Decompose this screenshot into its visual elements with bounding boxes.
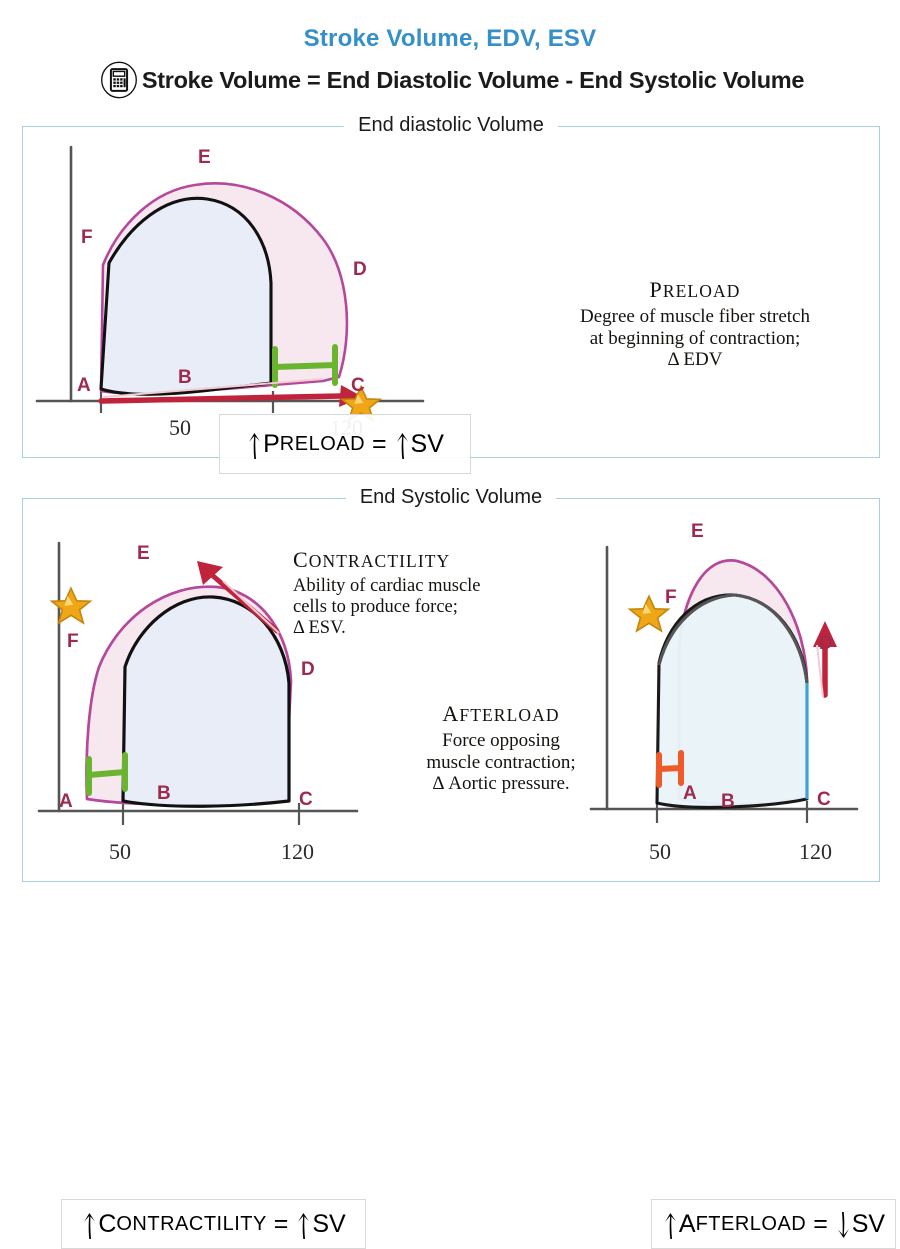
equation-term-afterload: A bbox=[679, 1210, 696, 1239]
equation-text-contractility: CONTRACTILITY = SV bbox=[81, 1210, 345, 1239]
point-label-C: C bbox=[351, 375, 365, 396]
point-label-D: D bbox=[301, 659, 315, 680]
equation-text-preload: PRELOAD = SV bbox=[246, 430, 444, 459]
arrow-up-icon bbox=[82, 1212, 97, 1239]
xtick-120-afterload: 120 bbox=[799, 839, 832, 865]
point-label-E: E bbox=[198, 147, 211, 168]
equation-sv-preload: SV bbox=[411, 430, 444, 459]
xtick-50-contractility: 50 bbox=[109, 839, 131, 865]
equation-term-contractility: C bbox=[98, 1210, 116, 1239]
point-label-B: B bbox=[721, 791, 735, 812]
equation-box-preload: PRELOAD = SV bbox=[219, 414, 471, 474]
point-label-C: C bbox=[817, 789, 831, 810]
arrow-up-icon bbox=[663, 1212, 678, 1239]
description-afterload: AFTERLOAD Force opposing muscle contract… bbox=[401, 701, 601, 795]
point-label-C: C bbox=[299, 789, 313, 810]
arrow-up-icon bbox=[296, 1212, 311, 1239]
arrow-up-icon bbox=[395, 432, 410, 459]
point-label-A: A bbox=[77, 375, 91, 396]
equation-term-preload: P bbox=[263, 430, 280, 459]
page-title: Stroke Volume, EDV, ESV bbox=[0, 26, 900, 52]
point-label-A: A bbox=[683, 783, 697, 804]
description-term-contractility: CONTRACTILITY bbox=[293, 547, 543, 573]
description-line-3: Δ Aortic pressure. bbox=[401, 773, 601, 795]
page-header: Stroke Volume, EDV, ESV Stroke Volume = … bbox=[0, 0, 900, 99]
equation-equals: = bbox=[806, 1210, 835, 1239]
point-label-F: F bbox=[67, 631, 79, 652]
star-marker bbox=[630, 596, 669, 631]
equation-equals: = bbox=[365, 430, 394, 459]
description-line-3: Δ ESV. bbox=[293, 618, 543, 639]
equation-box-contractility: CONTRACTILITY = SV bbox=[61, 1199, 366, 1249]
description-line-1: Ability of cardiac muscle bbox=[293, 576, 543, 597]
chart-afterload: A B C D E F bbox=[579, 503, 879, 875]
point-label-E: E bbox=[137, 543, 150, 564]
xtick-50-edv: 50 bbox=[169, 415, 191, 441]
description-line-2: muscle contraction; bbox=[401, 752, 601, 774]
description-contractility: CONTRACTILITY Ability of cardiac muscle … bbox=[293, 547, 543, 639]
panel-end-diastolic-volume: End diastolic Volume bbox=[22, 126, 880, 458]
chart-edv: A B C D E F bbox=[23, 133, 503, 453]
description-term-afterload: AFTERLOAD bbox=[401, 701, 601, 727]
point-label-E: E bbox=[691, 521, 704, 542]
description-line-2: cells to produce force; bbox=[293, 597, 543, 618]
xtick-50-afterload: 50 bbox=[649, 839, 671, 865]
loop-baseline-contractility bbox=[123, 597, 289, 806]
point-label-D: D bbox=[353, 259, 367, 280]
equation-sv-contractility: SV bbox=[312, 1210, 345, 1239]
formula-row: Stroke Volume = End Diastolic Volume - E… bbox=[0, 61, 900, 99]
equation-term-contractility-rest: ONTRACTILITY bbox=[116, 1213, 266, 1236]
equation-text-afterload: AFTERLOAD = SV bbox=[662, 1210, 885, 1239]
description-line-3: Δ EDV bbox=[510, 349, 880, 371]
point-label-B: B bbox=[157, 783, 171, 804]
arrow-down-icon bbox=[836, 1212, 851, 1239]
description-term-preload: PRELOAD bbox=[510, 277, 880, 303]
equation-term-preload-rest: RELOAD bbox=[280, 433, 365, 456]
legend-text-esv: End Systolic Volume bbox=[360, 486, 542, 508]
stroke-volume-formula: Stroke Volume = End Diastolic Volume - E… bbox=[142, 67, 804, 94]
description-preload: PRELOAD Degree of muscle fiber stretch a… bbox=[510, 277, 880, 371]
description-line-2: at beginning of contraction; bbox=[510, 328, 880, 350]
point-label-B: B bbox=[178, 367, 192, 388]
equation-sv-afterload: SV bbox=[852, 1210, 885, 1239]
arrow-up-icon bbox=[247, 432, 262, 459]
star-marker bbox=[52, 588, 91, 623]
description-line-1: Force opposing bbox=[401, 730, 601, 752]
point-label-A: A bbox=[59, 791, 73, 812]
equation-term-afterload-rest: FTERLOAD bbox=[696, 1213, 807, 1236]
point-label-F: F bbox=[81, 227, 93, 248]
panel-end-systolic-volume: End Systolic Volume bbox=[22, 498, 880, 882]
description-line-1: Degree of muscle fiber stretch bbox=[510, 306, 880, 328]
equation-equals: = bbox=[267, 1210, 296, 1239]
point-label-F: F bbox=[665, 587, 677, 608]
xtick-120-contractility: 120 bbox=[281, 839, 314, 865]
calculator-icon bbox=[100, 61, 138, 99]
panel-legend-esv: End Systolic Volume bbox=[346, 486, 556, 509]
equation-box-afterload: AFTERLOAD = SV bbox=[651, 1199, 896, 1249]
point-label-D: D bbox=[819, 633, 833, 654]
